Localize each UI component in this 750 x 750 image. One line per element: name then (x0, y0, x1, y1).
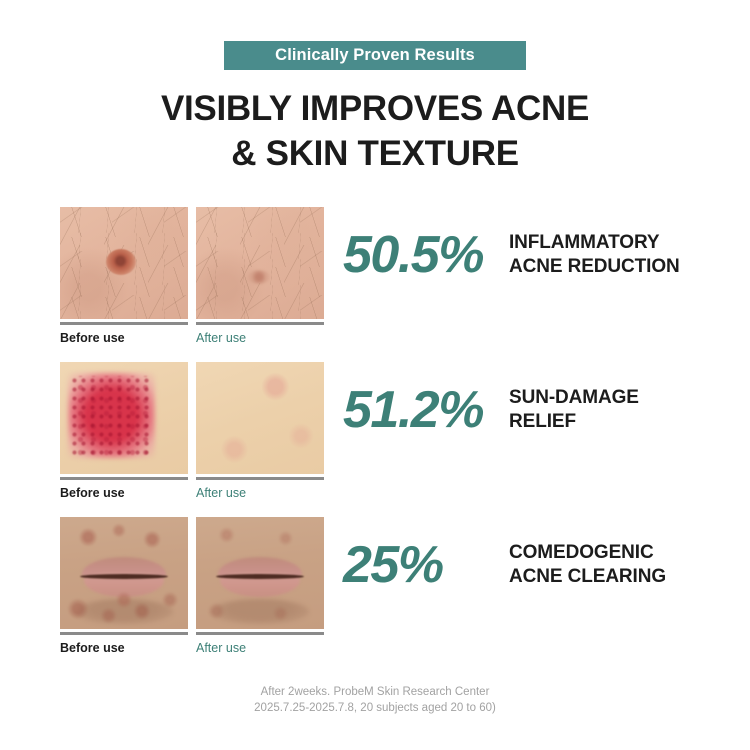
stat-description: COMEDOGENIC ACNE CLEARING (509, 541, 666, 588)
stat-description-line-2: ACNE CLEARING (509, 565, 666, 589)
result-row: Before use After use 50.5% INFLAMMATORY … (0, 207, 750, 362)
after-panel: After use (196, 207, 324, 345)
stat-description-line-1: INFLAMMATORY (509, 231, 680, 255)
before-after-pair: Before use After use (60, 517, 325, 655)
caption-after-use: After use (196, 642, 324, 655)
result-row: Before use After use 25% (0, 517, 750, 672)
before-panel: Before use (60, 362, 188, 500)
result-row: Before use After use 51.2% SUN-DAMAGE RE… (0, 362, 750, 517)
result-stat: 25% COMEDOGENIC ACNE CLEARING (343, 517, 666, 591)
caption-after-use: After use (196, 487, 324, 500)
before-photo-inflammatory-acne (60, 207, 188, 319)
before-after-pair: Before use After use (60, 207, 325, 345)
caption-after-use: After use (196, 332, 324, 345)
before-photo-comedogenic-acne (60, 517, 188, 629)
photo-underline (60, 322, 188, 325)
after-panel: After use (196, 517, 324, 655)
stat-description-line-1: COMEDOGENIC (509, 541, 666, 565)
stat-description-line-2: RELIEF (509, 410, 639, 434)
stat-description: INFLAMMATORY ACNE REDUCTION (509, 231, 680, 278)
study-footnote: After 2weeks. ProbeM Skin Research Cente… (0, 684, 750, 717)
banner-container: Clinically Proven Results (0, 0, 750, 70)
caption-before-use: Before use (60, 332, 188, 345)
stat-percentage: 50.5% (343, 229, 495, 281)
caption-before-use: Before use (60, 487, 188, 500)
stat-description: SUN-DAMAGE RELIEF (509, 386, 639, 433)
headline-line-2: & SKIN TEXTURE (0, 132, 750, 177)
stat-description-line-2: ACNE REDUCTION (509, 255, 680, 279)
stat-percentage: 25% (343, 539, 495, 591)
photo-underline (196, 477, 324, 480)
clinically-proven-banner: Clinically Proven Results (224, 41, 526, 70)
footnote-line-2: 2025.7.25-2025.7.8, 20 subjects aged 20 … (0, 700, 750, 717)
photo-underline (60, 632, 188, 635)
before-after-pair: Before use After use (60, 362, 325, 500)
caption-before-use: Before use (60, 642, 188, 655)
after-photo-comedogenic-acne (196, 517, 324, 629)
stat-description-line-1: SUN-DAMAGE (509, 386, 639, 410)
page-title: VISIBLY IMPROVES ACNE & SKIN TEXTURE (0, 87, 750, 177)
photo-underline (196, 632, 324, 635)
before-panel: Before use (60, 517, 188, 655)
photo-underline (60, 477, 188, 480)
photo-underline (196, 322, 324, 325)
stat-percentage: 51.2% (343, 384, 495, 436)
headline-line-1: VISIBLY IMPROVES ACNE (0, 87, 750, 132)
result-stat: 50.5% INFLAMMATORY ACNE REDUCTION (343, 207, 680, 281)
after-photo-sun-damage (196, 362, 324, 474)
before-photo-sun-damage (60, 362, 188, 474)
before-panel: Before use (60, 207, 188, 345)
after-panel: After use (196, 362, 324, 500)
after-photo-inflammatory-acne (196, 207, 324, 319)
footnote-line-1: After 2weeks. ProbeM Skin Research Cente… (0, 684, 750, 701)
result-stat: 51.2% SUN-DAMAGE RELIEF (343, 362, 639, 436)
results-list: Before use After use 50.5% INFLAMMATORY … (0, 207, 750, 672)
